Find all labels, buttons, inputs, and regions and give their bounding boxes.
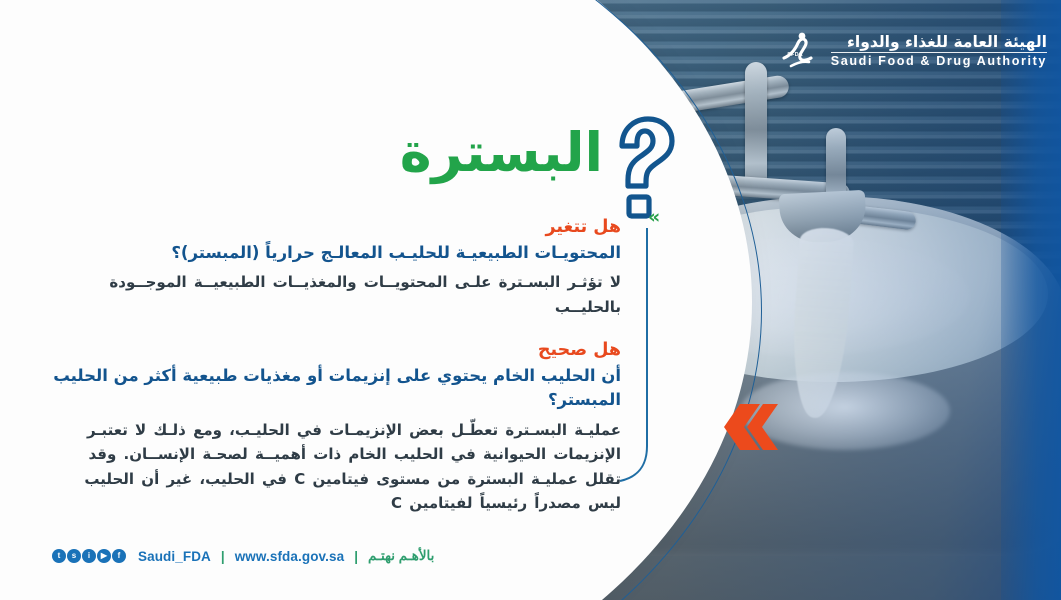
question-2-lead: هل صحيح: [538, 340, 621, 360]
title-word: البسترة: [400, 112, 603, 180]
twitter-icon[interactable]: t: [52, 549, 66, 563]
question-1-rest: المحتويـات الطبيعيـة للحليـب المعالـج حر…: [51, 241, 621, 266]
svg-text:SFDA: SFDA: [787, 52, 803, 58]
footer-separator-2: |: [354, 549, 358, 564]
logo-text: الهيئة العامة للغذاء والدواء Saudi Food …: [831, 34, 1047, 68]
photo-right-blue-band: [1001, 0, 1061, 600]
question-2-rest: أن الحليب الخام يحتوي على إنزيمات أو مغذ…: [51, 364, 621, 414]
instagram-icon[interactable]: i: [82, 549, 96, 563]
question-2: هل صحيح: [51, 339, 621, 363]
chevron-left-orange-icon: [710, 404, 778, 450]
social-handle: Saudi_FDA: [138, 549, 211, 564]
tagline: بالأهـم نهتـم: [368, 548, 434, 564]
chevron-right-green-icon: »: [648, 208, 660, 227]
footer-bar: t s i ▶ f Saudi_FDA | www.sfda.gov.sa | …: [52, 548, 434, 564]
question-1-lead: هل تتغير: [546, 217, 621, 237]
sfda-logomark-icon: SFDA: [775, 28, 821, 74]
poster-title: البسترة: [400, 112, 681, 224]
answer-2: عمليـة البسـترة تعطّـل بعض الإنزيمـات في…: [51, 418, 621, 515]
youtube-icon[interactable]: ▶: [97, 549, 111, 563]
snapchat-icon[interactable]: s: [67, 549, 81, 563]
logo-english-name: Saudi Food & Drug Authority: [831, 55, 1047, 69]
footer-separator-1: |: [221, 549, 225, 564]
answer-1: لا تؤثـر البسـترة علـى المحتويــات والمغ…: [51, 270, 621, 319]
qa-block-1: هل تتغير المحتويـات الطبيعيـة للحليـب ال…: [51, 216, 621, 319]
qa-block-2: هل صحيح أن الحليب الخام يحتوي على إنزيما…: [51, 339, 621, 515]
question-mark-icon: [609, 112, 681, 224]
website-url[interactable]: www.sfda.gov.sa: [235, 549, 345, 564]
sfda-logo: الهيئة العامة للغذاء والدواء Saudi Food …: [775, 28, 1047, 74]
logo-arabic-name: الهيئة العامة للغذاء والدواء: [831, 34, 1047, 53]
facebook-icon[interactable]: f: [112, 549, 126, 563]
content-column: هل تتغير المحتويـات الطبيعيـة للحليـب ال…: [51, 216, 621, 535]
question-1: هل تتغير: [51, 216, 621, 240]
social-icons: t s i ▶ f: [52, 549, 126, 563]
poster-canvas: الهيئة العامة للغذاء والدواء Saudi Food …: [0, 0, 1061, 600]
